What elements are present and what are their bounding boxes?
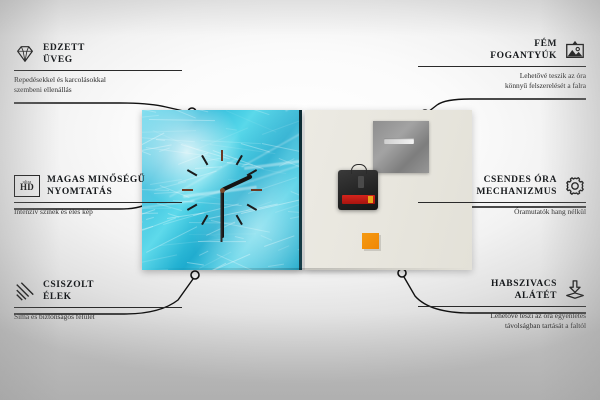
clock-mechanism [338, 170, 378, 210]
callout-magas-minosegu-nyomtatas[interactable]: ultra HD MAGAS MINŐSÉGŰ NYOMTATÁS Intenz… [14, 174, 182, 217]
callout-head: ultra HD MAGAS MINŐSÉGŰ NYOMTATÁS [14, 174, 182, 198]
callout-desc-line1: Repedésekkel és karcolásokkal [14, 75, 182, 85]
panel-edge [299, 110, 302, 270]
callout-rule [14, 307, 182, 308]
callout-head: CSISZOLT ÉLEK [14, 279, 182, 303]
callout-rule [418, 66, 586, 67]
callout-title-line1: FÉM [490, 38, 557, 50]
callout-habszivacs-alatet[interactable]: HABSZIVACS ALÁTÉT Lehetővé teszi az óra … [418, 278, 586, 330]
callout-title-line1: EDZETT [43, 42, 85, 54]
ultra-hd-icon-large: HD [20, 183, 34, 192]
callout-title-line2: ALÁTÉT [491, 290, 557, 302]
callout-title-line1: HABSZIVACS [491, 278, 557, 290]
callout-rule [418, 306, 586, 307]
callout-rule [14, 202, 182, 203]
beveled-edges-icon [14, 280, 36, 302]
gear-icon [564, 175, 586, 197]
hanger-slot [384, 138, 414, 144]
callout-head: EDZETT ÜVEG [14, 42, 182, 66]
callout-title-line2: NYOMTATÁS [47, 186, 145, 198]
product-shadow [146, 268, 468, 275]
battery [342, 195, 375, 204]
callout-csendes-ora-mechanizmus[interactable]: CSENDES ÓRA MECHANIZMUS Óramutatók hang … [418, 174, 586, 217]
mechanism-shaft [358, 176, 364, 188]
infographic-canvas: EDZETT ÜVEG Repedésekkel és karcolásokka… [0, 0, 600, 400]
callout-title-line2: ÜVEG [43, 54, 85, 66]
callout-desc-line1: Lehetővé teszi az óra egyenletes [418, 311, 586, 321]
callout-title-line1: MAGAS MINŐSÉGŰ [47, 174, 145, 186]
callout-head: CSENDES ÓRA MECHANIZMUS [418, 174, 586, 198]
callout-fem-fogantyuk[interactable]: FÉM FOGANTYÚK Lehetővé teszik az óra kön… [418, 38, 586, 90]
foam-pad [362, 233, 379, 249]
callout-desc-line1: Sima és biztonságos felület [14, 312, 182, 322]
mechanism-loop [351, 164, 367, 174]
callout-desc-line2: távolságban tartását a faltól [418, 321, 586, 331]
callout-title-line1: CSENDES ÓRA [477, 174, 557, 186]
callout-head: FÉM FOGANTYÚK [418, 38, 586, 62]
callout-csiszolt-elek[interactable]: CSISZOLT ÉLEK Sima és biztonságos felüle… [14, 279, 182, 322]
callout-title-line2: ÉLEK [43, 291, 94, 303]
callout-desc-line1: Óramutatók hang nélkül [418, 207, 586, 217]
callout-title-line2: MECHANIZMUS [477, 186, 557, 198]
callout-desc-line2: szembeni ellenállás [14, 85, 182, 95]
callout-rule [14, 70, 182, 71]
callout-rule [418, 202, 586, 203]
metal-hanger [373, 121, 429, 173]
callout-desc-line1: Intenzív színek és éles kép [14, 207, 182, 217]
foam-pad-arrow-icon [564, 279, 586, 301]
callout-head: HABSZIVACS ALÁTÉT [418, 278, 586, 302]
callout-desc-line2: könnyű felszerelését a falra [418, 81, 586, 91]
hand-center-cap [220, 188, 225, 193]
callout-title-line1: CSISZOLT [43, 279, 94, 291]
picture-hanger-icon [564, 39, 586, 61]
callout-edzett-uveg[interactable]: EDZETT ÜVEG Repedésekkel és karcolásokka… [14, 42, 182, 94]
callout-desc-line1: Lehetővé teszik az óra [418, 71, 586, 81]
ultra-hd-icon: ultra HD [14, 175, 40, 197]
diamond-icon [14, 43, 36, 65]
callout-title-line2: FOGANTYÚK [490, 50, 557, 62]
